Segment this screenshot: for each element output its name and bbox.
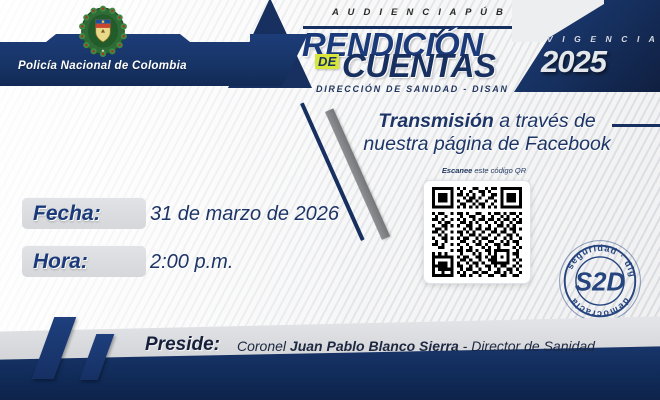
preside-role: - Director de Sanidad <box>459 338 595 354</box>
preside-name: Juan Pablo Blanco Sierra <box>290 338 459 354</box>
preside-value: Coronel Juan Pablo Blanco Sierra - Direc… <box>237 338 595 354</box>
broadcast-rest: a través de <box>494 110 596 132</box>
qr-hint-strong: Escanee <box>442 166 472 175</box>
preside-label: Preside: <box>145 334 220 356</box>
title-subtitle-direccion: DIRECCIÓN DE SANIDAD - DISAN <box>316 84 509 94</box>
svg-text:democracia: democracia <box>568 296 632 319</box>
broadcast-line2: nuestra página de Facebook <box>363 133 610 155</box>
date-value: 31 de marzo de 2026 <box>150 203 339 226</box>
time-value: 2:00 p.m. <box>150 251 233 274</box>
vigencia-year: 2025 <box>541 44 606 80</box>
colombia-coat-of-arms-icon: ★ <box>77 4 129 58</box>
broadcast-rule <box>612 124 660 127</box>
svg-text:★: ★ <box>101 48 105 53</box>
poster-canvas: ★ Policía Nacional de Colombia A U D I E… <box>0 0 660 400</box>
title-connector-de: DE <box>315 54 339 69</box>
date-label: Fecha: <box>33 202 101 226</box>
time-label: Hora: <box>33 250 88 274</box>
vigencia-label: V I G E N C I A <box>547 34 658 44</box>
s2d-seal-icon: seguridad · dignidad democracia S2D <box>557 238 643 324</box>
check-mark-icon: ✓ <box>431 24 449 44</box>
qr-code-icon[interactable] <box>423 180 531 284</box>
qr-hint-rest: este código QR <box>472 166 526 175</box>
qr-hint: Escanee este código QR <box>420 166 548 175</box>
organization-name: Policía Nacional de Colombia <box>18 60 187 72</box>
broadcast-text: Transmisión a través de nuestra página d… <box>352 110 622 156</box>
broadcast-strong: Transmisión <box>378 110 494 132</box>
svg-text:S2D: S2D <box>575 268 625 296</box>
title-line-cuentas: CUENTAS <box>342 47 496 85</box>
preside-rank: Coronel <box>237 338 290 354</box>
